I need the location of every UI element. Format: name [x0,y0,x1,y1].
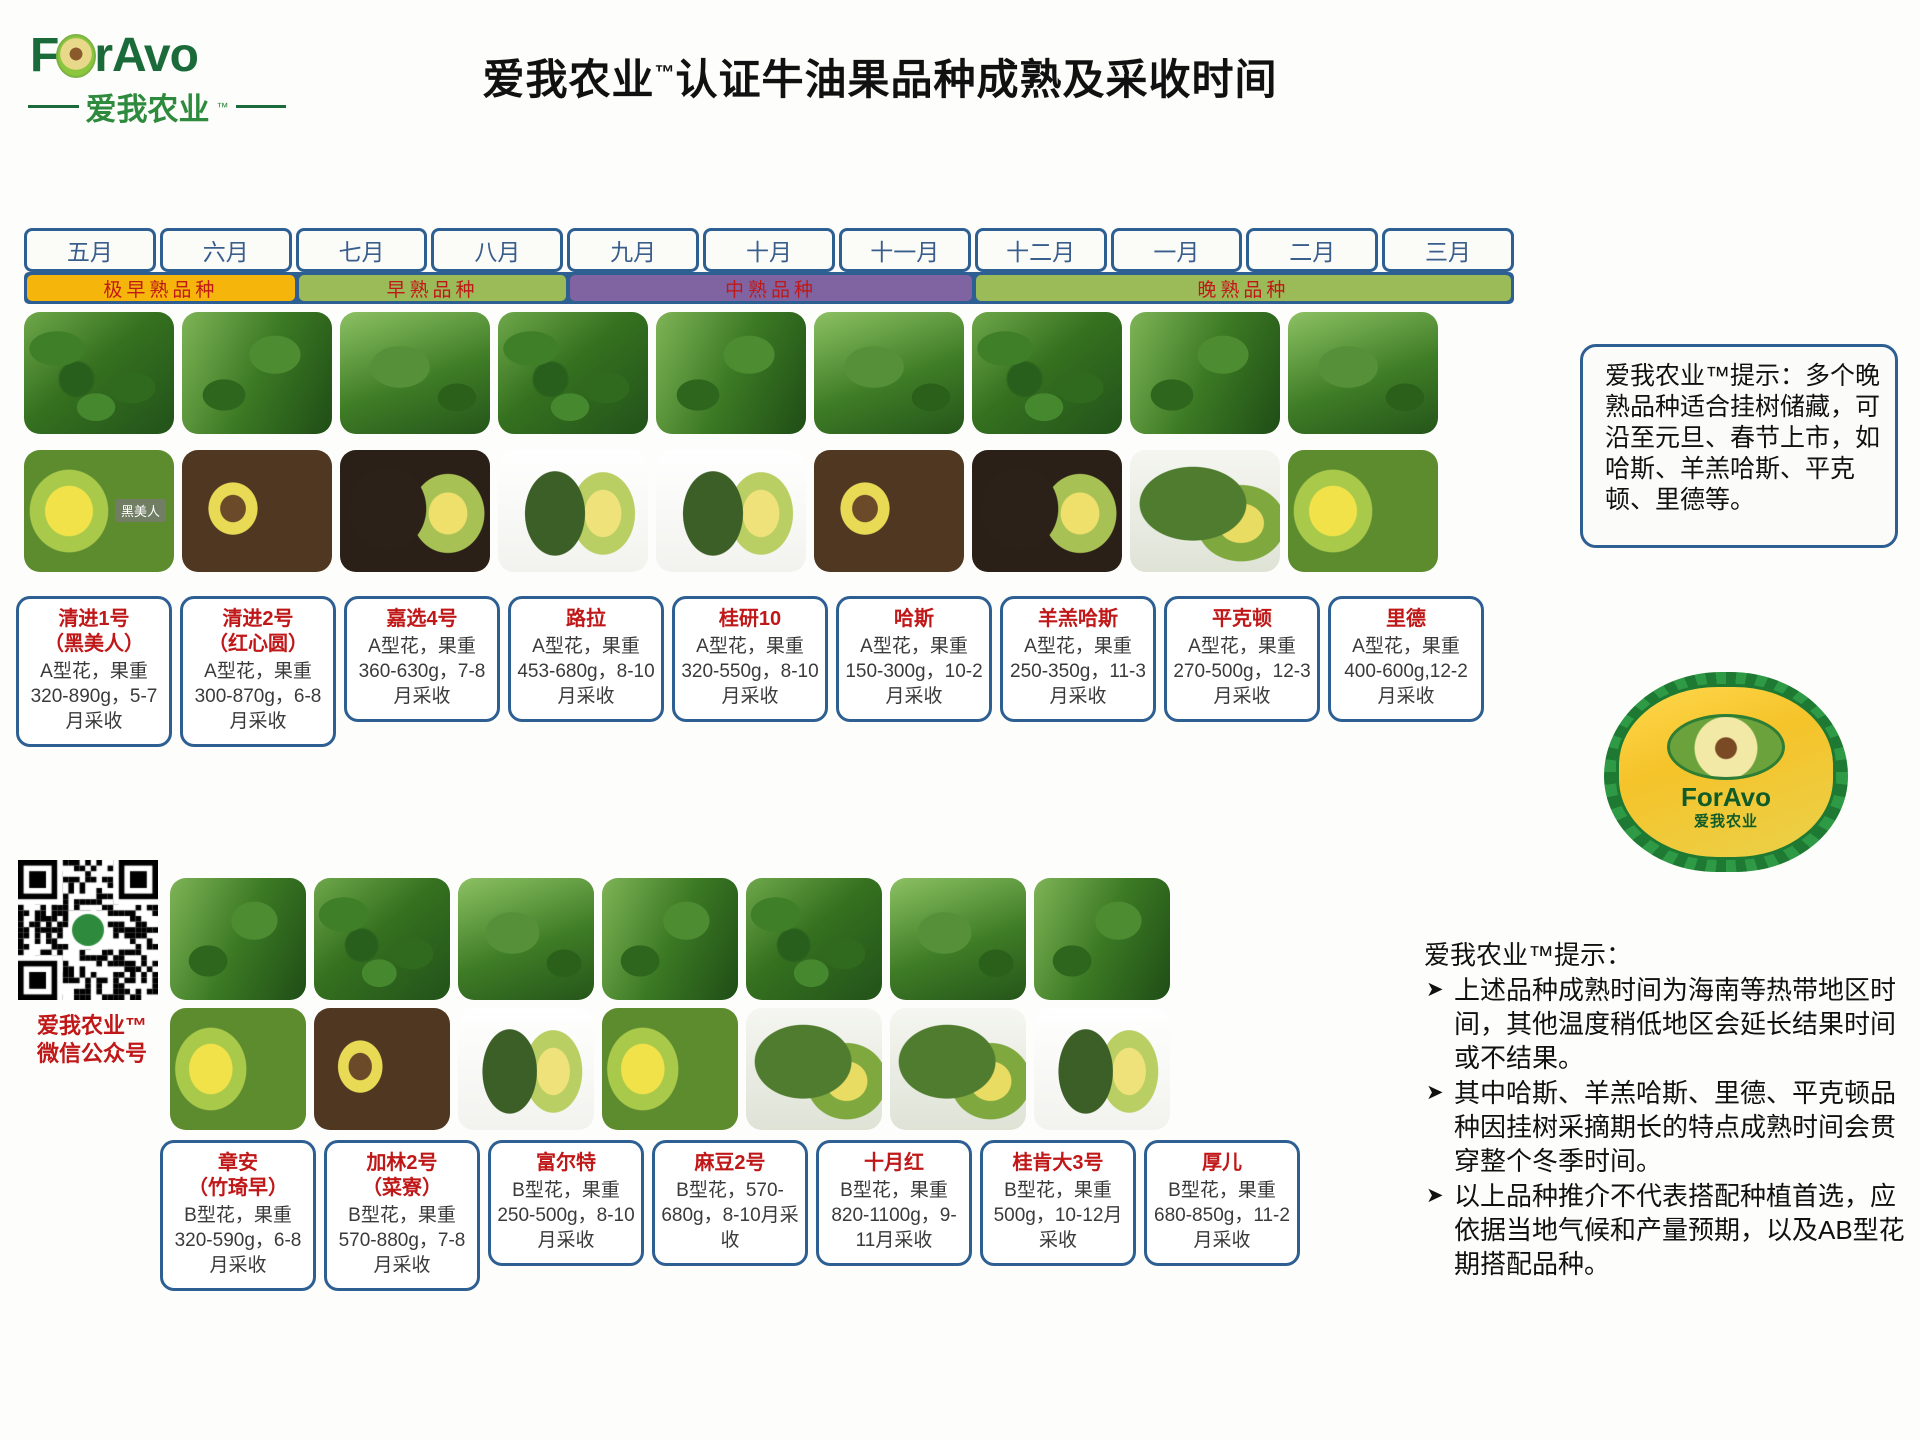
fruit-photo [340,450,490,572]
month-cell: 二月 [1246,228,1378,272]
month-cell: 七月 [296,228,428,272]
fruit-photo [182,450,332,572]
month-cell: 六月 [160,228,292,272]
variety-card: 清进2号（红心圆）A型花，果重300-870g，6-8月采收 [180,596,336,747]
tip-box-text: 爱我农业™提示：多个晚熟品种适合挂树储藏，可沿至元旦、春节上市，如哈斯、羊羔哈斯… [1605,361,1885,516]
fruit-photo [458,1008,594,1130]
seal-avocado-icon [1667,714,1785,780]
variety-card: 哈斯A型花，果重150-300g，10-2月采收 [836,596,992,722]
logo-letter-f: F [30,29,58,82]
month-header-row: 五月六月七月八月九月十月十一月十二月一月二月三月 [24,228,1514,272]
qr-caption: 爱我农业™ 微信公众号 [12,1012,172,1068]
variety-description: B型花，果重680-850g，11-2月采收 [1153,1178,1291,1253]
tree-photo [890,878,1026,1000]
fruit-photo [656,450,806,572]
variety-description: A型花，果重250-350g，11-3月采收 [1009,634,1147,709]
variety-name: 桂研10 [681,607,819,632]
variety-description: B型花，果重500g，10-12月采收 [989,1178,1127,1253]
variety-name: 麻豆2号 [661,1151,799,1176]
variety-description: B型花，果重570-880g，7-8月采收 [333,1203,471,1278]
variety-description: B型花，570-680g，8-10月采收 [661,1178,799,1253]
variety-description: B型花，果重250-500g，8-10月采收 [497,1178,635,1253]
fruit-photo [314,1008,450,1130]
month-cell: 十二月 [975,228,1107,272]
logo-rule-left [28,105,79,108]
tree-photo [1130,312,1280,434]
certification-seal: ForAvo 爱我农业 [1604,672,1848,872]
fruit-photo [972,450,1122,572]
variety-card: 加林2号（菜寮）B型花，果重570-880g，7-8月采收 [324,1140,480,1291]
month-cell: 五月 [24,228,156,272]
variety-name: 桂肯大3号 [989,1151,1127,1176]
logo-chinese-text: 爱我农业 [86,84,210,129]
logo-wordmark: FrAvo [26,30,286,82]
variety-description: B型花，果重820-1100g，9-11月采收 [825,1178,963,1253]
variety-alias: （黑美人） [25,632,163,657]
variety-name: 厚儿 [1153,1151,1291,1176]
title-tm: ™ [655,62,676,84]
footer-notes: 爱我农业™提示： 上述品种成熟时间为海南等热带地区时间，其他温度稍低地区会延长结… [1424,938,1912,1281]
month-cell: 九月 [567,228,699,272]
tree-photo [1288,312,1438,434]
variety-card: 平克顿A型花，果重270-500g，12-3月采收 [1164,596,1320,722]
tree-photo [340,312,490,434]
variety-name: 十月红 [825,1151,963,1176]
seal-wordmark: ForAvo [1681,784,1771,810]
category-segment: 晚熟品种 [976,275,1511,301]
tree-photo [814,312,964,434]
variety-card: 嘉选4号A型花，果重360-630g，7-8月采收 [344,596,500,722]
maturity-category-band: 极早熟品种早熟品种中熟品种晚熟品种 [24,272,1514,304]
top-fruit-photo-row: 黑美人 [24,450,1438,572]
variety-card: 路拉A型花，果重453-680g，8-10月采收 [508,596,664,722]
title-rest: 认证牛油果品种成熟及采收时间 [676,56,1278,103]
avocado-o-icon [56,34,96,78]
seal-chinese: 爱我农业 [1694,810,1758,831]
fruit-photo: 黑美人 [24,450,174,572]
variety-description: A型花，果重150-300g，10-2月采收 [845,634,983,709]
logo-chinese: 爱我农业™ [26,84,286,129]
variety-card: 桂研10A型花，果重320-550g，8-10月采收 [672,596,828,722]
variety-name: 路拉 [517,607,655,632]
tree-photo [602,878,738,1000]
category-segment: 中熟品种 [570,275,971,301]
variety-card: 麻豆2号B型花，570-680g，8-10月采收 [652,1140,808,1266]
variety-description: A型花，果重400-600g,12-2月采收 [1337,634,1475,709]
variety-description: A型花，果重453-680g，8-10月采收 [517,634,655,709]
wechat-qr-code[interactable] [18,860,158,1000]
note-item: 以上品种推介不代表搭配种植首选，应依据当地气候和产量预期，以及AB型花期搭配品种… [1424,1179,1912,1281]
notes-heading: 爱我农业™提示： [1424,938,1912,972]
variety-alias: （竹琦早） [169,1176,307,1201]
top-variety-card-row: 清进1号（黑美人）A型花，果重320-890g，5-7月采收清进2号（红心圆）A… [16,596,1516,747]
category-segment: 极早熟品种 [27,275,295,301]
bottom-variety-card-row: 章安（竹琦早）B型花，果重320-590g，6-8月采收加林2号（菜寮）B型花，… [160,1140,1316,1291]
qr-canvas [18,860,158,1000]
tree-photo [314,878,450,1000]
variety-name: 哈斯 [845,607,983,632]
logo-tm: ™ [217,100,229,114]
variety-card: 羊羔哈斯A型花，果重250-350g，11-3月采收 [1000,596,1156,722]
fruit-photo [814,450,964,572]
tree-photo [656,312,806,434]
month-cell: 八月 [431,228,563,272]
variety-description: A型花，果重270-500g，12-3月采收 [1173,634,1311,709]
note-item: 其中哈斯、羊羔哈斯、里德、平克顿品种因挂树采摘期长的特点成熟时间会贯穿整个冬季时… [1424,1076,1912,1178]
title-brand: 爱我农业 [482,56,654,103]
month-cell: 十一月 [839,228,971,272]
variety-alias: （红心圆） [189,632,327,657]
fruit-photo [1288,450,1438,572]
variety-description: A型花，果重300-870g，6-8月采收 [189,659,327,734]
tree-photo [182,312,332,434]
variety-description: B型花，果重320-590g，6-8月采收 [169,1203,307,1278]
variety-card: 里德A型花，果重400-600g,12-2月采收 [1328,596,1484,722]
tree-photo [498,312,648,434]
tip-box-late-varieties: 爱我农业™提示：多个晚熟品种适合挂树储藏，可沿至元旦、春节上市，如哈斯、羊羔哈斯… [1580,344,1898,548]
variety-name: 羊羔哈斯 [1009,607,1147,632]
month-cell: 十月 [703,228,835,272]
fruit-photo [170,1008,306,1130]
tree-photo [746,878,882,1000]
note-item: 上述品种成熟时间为海南等热带地区时间，其他温度稍低地区会延长结果时间或不结果。 [1424,973,1912,1075]
tree-photo [170,878,306,1000]
fruit-photo [1130,450,1280,572]
variety-card: 清进1号（黑美人）A型花，果重320-890g，5-7月采收 [16,596,172,747]
bottom-fruit-photo-row [170,1008,1170,1130]
brand-logo: FrAvo 爱我农业™ [26,30,286,135]
logo-rule-right [236,105,287,108]
variety-name: 里德 [1337,607,1475,632]
variety-card: 章安（竹琦早）B型花，果重320-590g，6-8月采收 [160,1140,316,1291]
page-title: 爱我农业™认证牛油果品种成熟及采收时间 [380,46,1380,107]
tree-photo [458,878,594,1000]
bottom-tree-photo-row [170,878,1170,1000]
variety-alias: （菜寮） [333,1176,471,1201]
month-cell: 三月 [1382,228,1514,272]
qr-caption-line1: 爱我农业™ [12,1012,172,1040]
tree-photo [1034,878,1170,1000]
variety-name: 章安 [169,1151,307,1176]
logo-letters-ravo: rAvo [94,29,198,82]
variety-card: 富尔特B型花，果重250-500g，8-10月采收 [488,1140,644,1266]
variety-card: 桂肯大3号B型花，果重500g，10-12月采收 [980,1140,1136,1266]
fruit-photo [498,450,648,572]
notes-list: 上述品种成熟时间为海南等热带地区时间，其他温度稍低地区会延长结果时间或不结果。其… [1424,973,1912,1281]
month-cell: 一月 [1111,228,1243,272]
variety-card: 厚儿B型花，果重680-850g，11-2月采收 [1144,1140,1300,1266]
seal-inner: ForAvo 爱我农业 [1616,684,1836,860]
variety-description: A型花，果重320-890g，5-7月采收 [25,659,163,734]
infographic-page: FrAvo 爱我农业™ 爱我农业™认证牛油果品种成熟及采收时间 五月六月七月八月… [0,0,1920,1440]
qr-caption-line2: 微信公众号 [12,1040,172,1068]
variety-card: 十月红B型花，果重820-1100g，9-11月采收 [816,1140,972,1266]
top-tree-photo-row [24,312,1438,434]
fruit-photo [746,1008,882,1130]
fruit-photo [1034,1008,1170,1130]
fruit-photo [890,1008,1026,1130]
variety-description: A型花，果重320-550g，8-10月采收 [681,634,819,709]
category-segment: 早熟品种 [299,275,567,301]
variety-name: 清进2号 [189,607,327,632]
variety-description: A型花，果重360-630g，7-8月采收 [353,634,491,709]
variety-name: 平克顿 [1173,607,1311,632]
fruit-photo [602,1008,738,1130]
tree-photo [972,312,1122,434]
tree-photo [24,312,174,434]
variety-name: 清进1号 [25,607,163,632]
variety-name: 加林2号 [333,1151,471,1176]
variety-name: 嘉选4号 [353,607,491,632]
fruit-photo-caption: 黑美人 [115,499,166,522]
variety-name: 富尔特 [497,1151,635,1176]
